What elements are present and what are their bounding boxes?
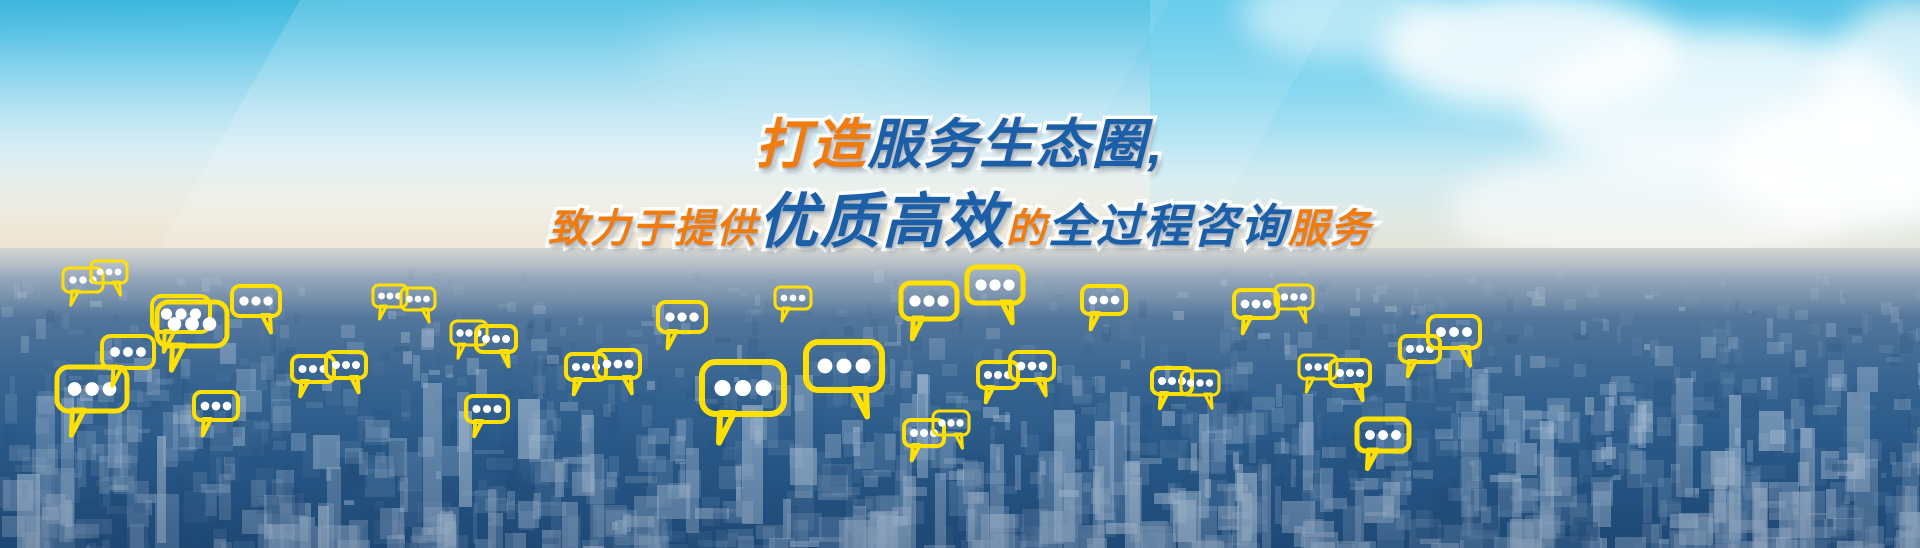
speech-bubble-icon (322, 348, 370, 396)
speech-bubble-icon (1078, 282, 1130, 333)
speech-bubble-icon (1178, 368, 1222, 411)
speech-bubble-icon (1424, 312, 1484, 370)
speech-bubble-icon (462, 392, 512, 440)
speech-bubble-icon (800, 336, 888, 422)
speech-bubble-icon (152, 297, 232, 375)
speech-bubble-icon (1006, 348, 1058, 399)
speech-bubble-icon (1352, 414, 1414, 474)
speech-bubble-icon (696, 356, 790, 449)
speech-bubble-icon (398, 285, 438, 325)
speech-bubble-icon (772, 284, 814, 324)
speech-bubble-icon (592, 346, 644, 397)
speech-bubble-icon (98, 332, 158, 390)
speech-bubble-icon (1326, 356, 1374, 404)
speech-bubble-icon (654, 298, 710, 353)
speech-bubble-icon (88, 258, 130, 298)
speech-bubble-icon (962, 262, 1028, 328)
speech-bubble-icon (930, 408, 972, 451)
speech-bubble-icon (1272, 282, 1316, 325)
speech-bubble-icon (896, 278, 962, 344)
speech-bubble-icon (228, 282, 284, 337)
speech-bubble-icon (472, 322, 520, 370)
hero-banner: 打造服务生态圈, 致力于提供优质高效的全过程咨询服务 (0, 0, 1920, 548)
speech-bubble-icon (190, 388, 242, 439)
